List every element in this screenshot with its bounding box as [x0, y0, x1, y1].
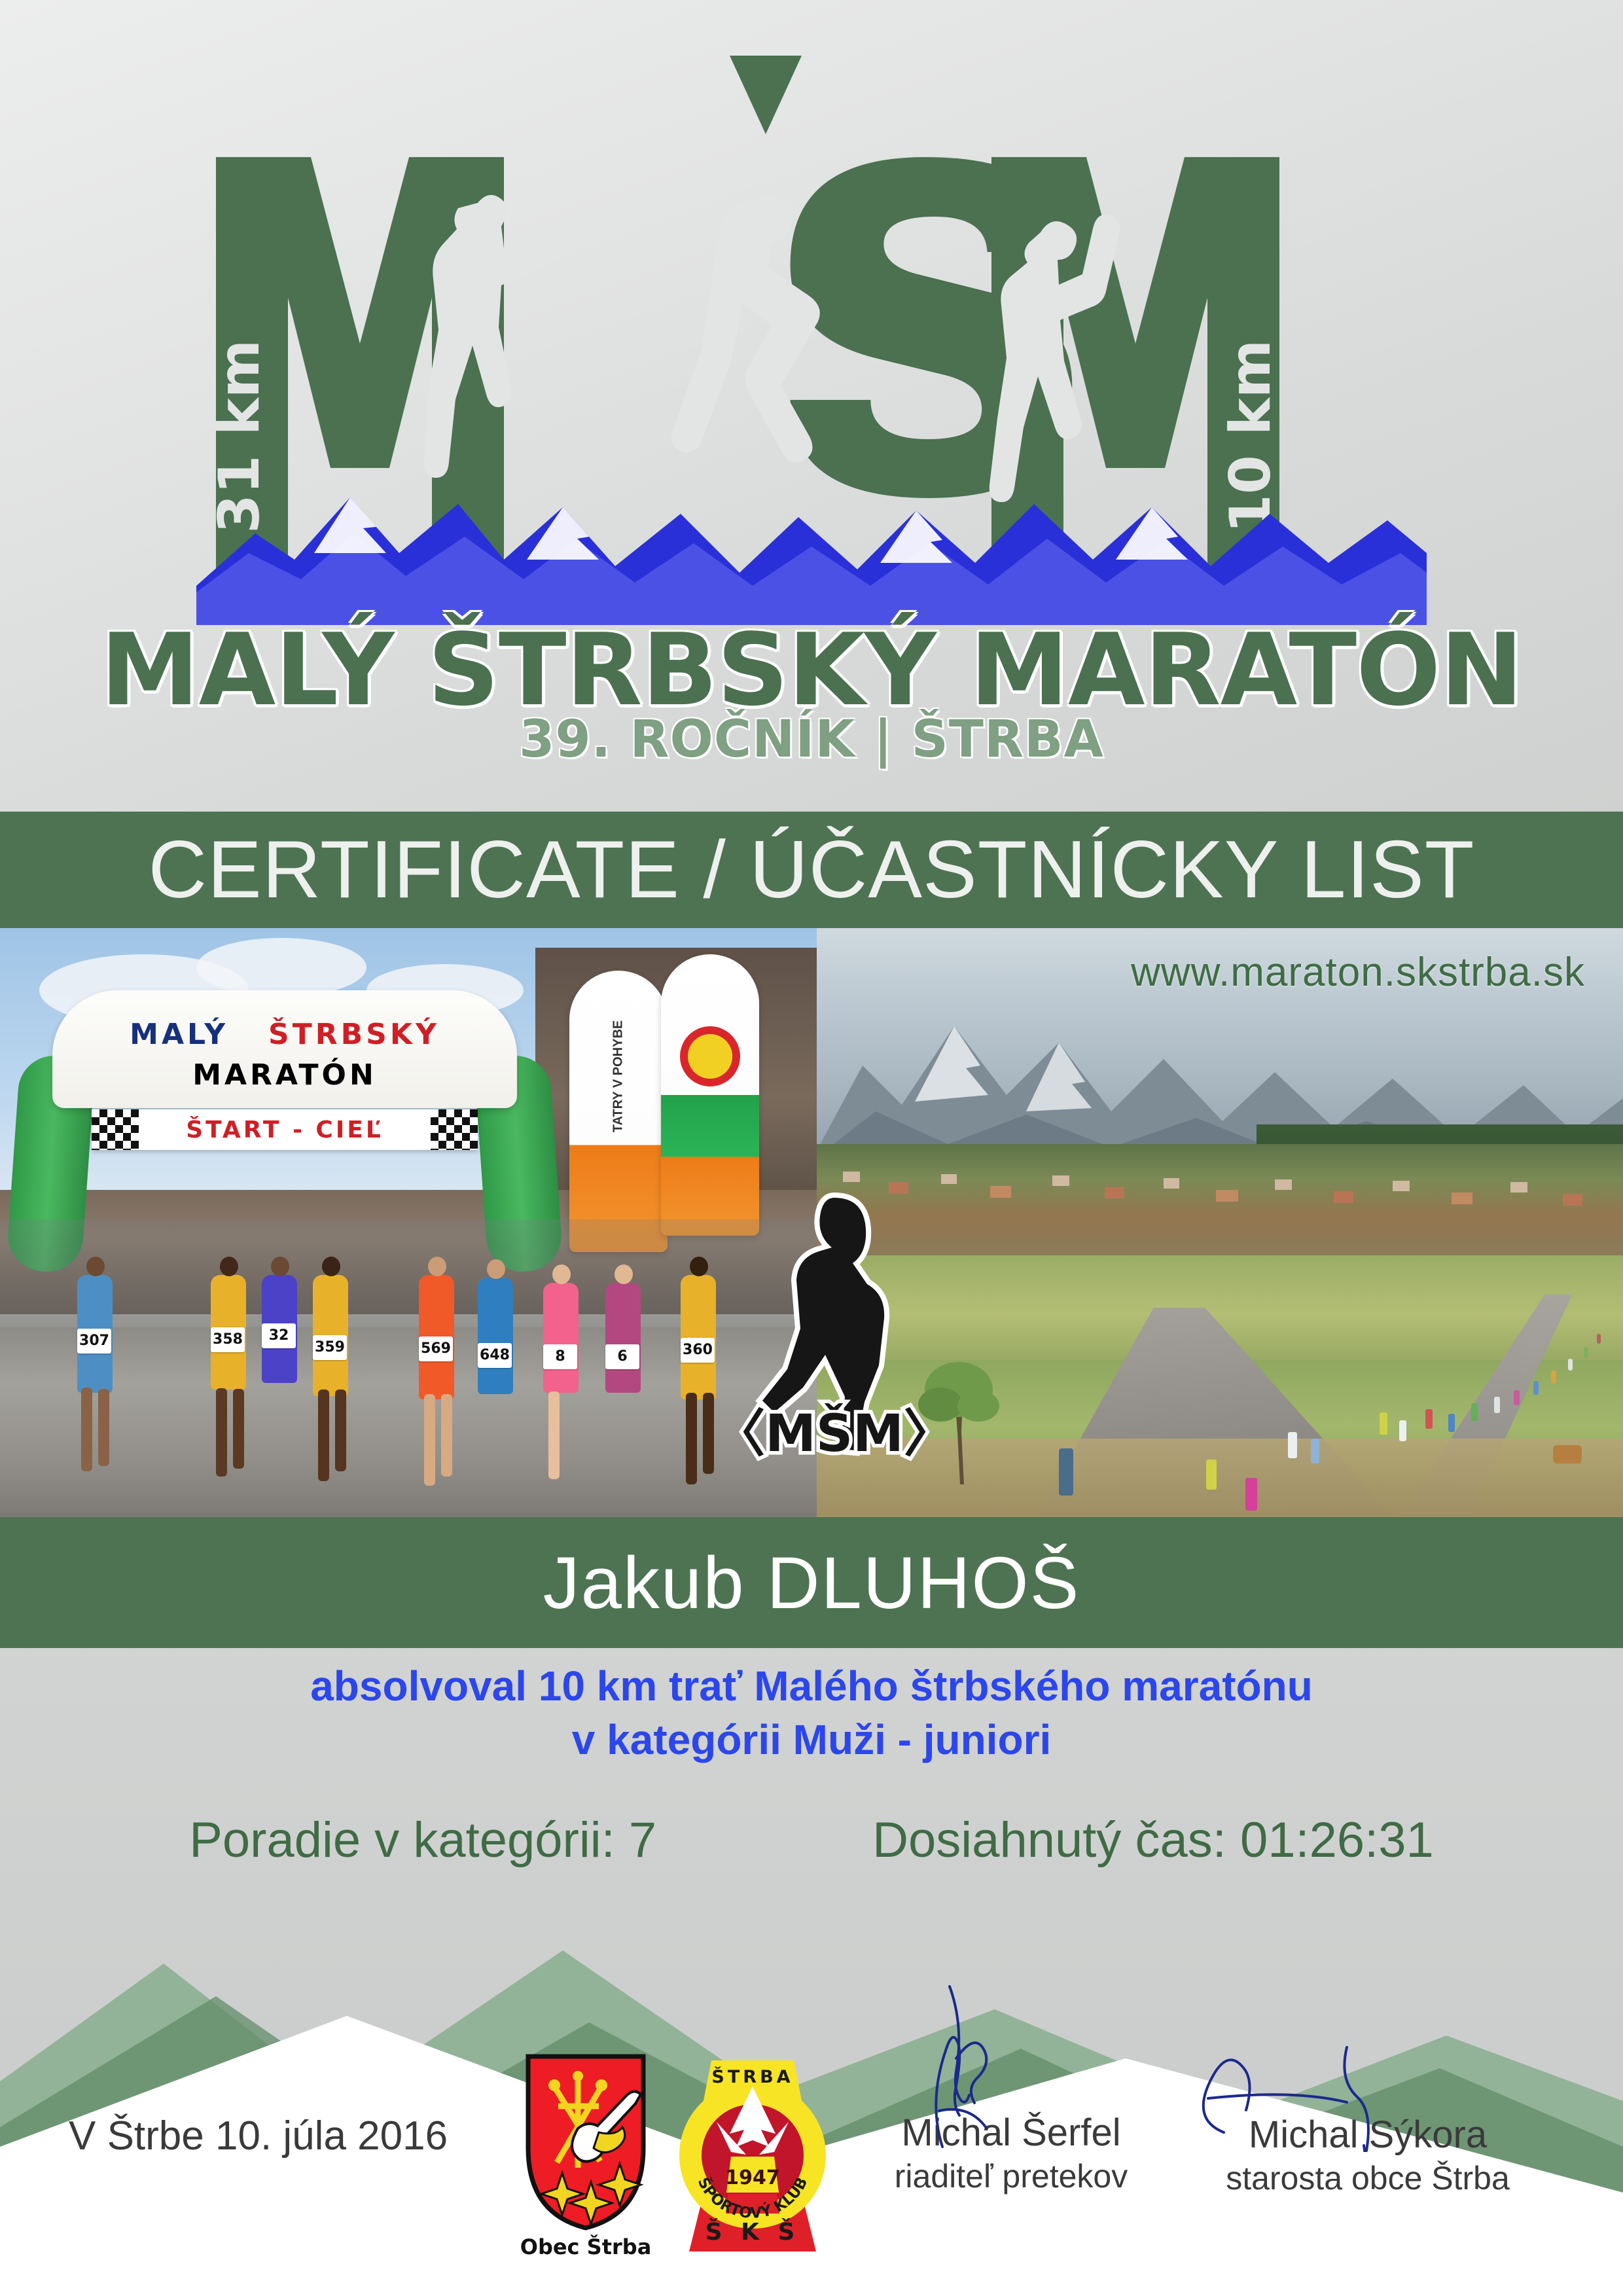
achievement-line-1: absolvoval 10 km trať Malého štrbského m… — [0, 1660, 1623, 1713]
runner — [1206, 1460, 1217, 1490]
finish-time: Dosiahnutý čas: 01:26:31 — [872, 1812, 1434, 1869]
participant-name-banner: Jakub DLUHOŠ — [0, 1517, 1623, 1648]
runner-bib: 6 — [605, 1344, 639, 1369]
runner-head — [271, 1257, 289, 1276]
club-emblem-small — [680, 1026, 740, 1086]
runner — [1288, 1432, 1297, 1458]
house — [1216, 1190, 1238, 1202]
runner-bib: 360 — [681, 1338, 715, 1363]
msm-logo-svg: 31 km 10 km — [196, 36, 1427, 625]
runner — [1425, 1409, 1433, 1429]
svg-text:〈MŠM〉: 〈MŠM〉 — [736, 1403, 933, 1463]
arch-word-maraton: MARATÓN — [192, 1058, 377, 1092]
coat-of-arms-svg: Obec Štrba — [520, 2050, 651, 2266]
certificate-title: CERTIFICATE / ÚČASTNÍCKY LIST — [148, 823, 1474, 916]
footer-row: V Štrbe 10. júla 2016 — [0, 2062, 1623, 2296]
runner-bib: 358 — [211, 1327, 245, 1352]
runner-leg — [216, 1388, 227, 1477]
header-section: 31 km 10 km — [0, 0, 1623, 812]
certificate-banner: CERTIFICATE / ÚČASTNÍCKY LIST — [0, 812, 1623, 928]
start-finish-text: ŠTART - CIEĽ — [186, 1117, 383, 1143]
runner — [1399, 1420, 1406, 1441]
arch-word-maly: MALÝ — [130, 1018, 228, 1051]
watermark-svg: 〈MŠM〉 — [736, 1181, 933, 1463]
spectator — [1059, 1448, 1073, 1496]
club-year: 1947 — [725, 2166, 780, 2189]
runner — [1380, 1412, 1387, 1435]
checker-left — [92, 1109, 139, 1150]
svg-text:10 km: 10 km — [1218, 340, 1283, 533]
photo-start-line: TATRY V POHYBE MALÝ ŠTRBSKÝ MARATÓN — [0, 928, 817, 1517]
runner-bib: 359 — [313, 1335, 347, 1360]
runner — [1533, 1381, 1539, 1395]
runner — [1448, 1414, 1455, 1432]
website-url: www.maraton.skstrba.sk — [1131, 949, 1585, 996]
house — [1510, 1182, 1527, 1193]
results-row: Poradie v kategórii: 7 Dosiahnutý čas: 0… — [0, 1812, 1623, 1869]
runner — [1311, 1439, 1319, 1463]
arch-line-1: MALÝ ŠTRBSKÝ — [52, 1018, 517, 1051]
runner-head — [86, 1257, 105, 1276]
runner-leg — [318, 1390, 329, 1481]
start-finish-banner: ŠTART - CIEĽ — [92, 1109, 478, 1150]
svg-text:31 km: 31 km — [207, 340, 272, 533]
arch-word-strbsky: ŠTRBSKÝ — [268, 1018, 440, 1051]
runner-head — [552, 1265, 571, 1284]
msm-runner-watermark: 〈MŠM〉 — [736, 1181, 933, 1463]
runner-leg — [686, 1393, 697, 1484]
watermark-msm-text: 〈MŠM〉 — [736, 1403, 933, 1463]
runner-leg — [335, 1390, 346, 1471]
obec-strba-emblem: Obec Štrba — [520, 2050, 651, 2266]
runner — [1597, 1334, 1601, 1344]
issue-date: V Štrbe 10. júla 2016 — [69, 2113, 448, 2159]
cloud — [196, 938, 366, 997]
house — [1105, 1187, 1124, 1198]
category-rank: Poradie v kategórii: 7 — [189, 1812, 656, 1869]
runner-leg — [424, 1394, 435, 1486]
village — [817, 1144, 1623, 1262]
signature-block-mayor: Michal Sýkora starosta obce Štrba — [1185, 2113, 1551, 2197]
house — [1334, 1191, 1353, 1203]
house — [1052, 1175, 1069, 1186]
runner-head — [615, 1265, 633, 1284]
race-subtitle: 39. ROČNÍK | ŠTRBA — [0, 710, 1623, 769]
arch-line-2: MARATÓN — [52, 1058, 517, 1092]
flag-text: TATRY V POHYBE — [611, 1020, 626, 1133]
runner-head — [428, 1257, 446, 1276]
signature-scribble — [1185, 1982, 1551, 2152]
runner — [1471, 1403, 1478, 1421]
emblem-label: Obec Štrba — [520, 2234, 651, 2259]
house — [1393, 1181, 1410, 1191]
runner-leg — [81, 1388, 92, 1471]
house — [1164, 1178, 1179, 1189]
runner — [1551, 1371, 1556, 1384]
runner-head — [322, 1257, 340, 1276]
cow — [1553, 1445, 1582, 1463]
runner-bib: 307 — [77, 1329, 111, 1354]
runner-bib: 8 — [543, 1344, 577, 1369]
photo-landscape: www.maraton.skstrba.sk — [817, 928, 1623, 1517]
runner-torso — [681, 1275, 716, 1399]
runner-bib: 648 — [478, 1343, 512, 1368]
club-bottom-text: Š K Š — [705, 2218, 800, 2246]
participant-name: Jakub DLUHOŠ — [543, 1541, 1080, 1625]
runner-torso — [478, 1278, 513, 1394]
signature-role: riaditeľ pretekov — [828, 2157, 1194, 2195]
runner-head — [487, 1259, 505, 1279]
runner — [1568, 1359, 1573, 1371]
house — [1563, 1194, 1582, 1206]
house — [843, 1172, 860, 1182]
runner-torso — [605, 1283, 641, 1393]
runner — [1245, 1478, 1257, 1511]
club-emblem-svg: 1947 ŠTRBA Š K Š ŠPORTOVÝ KLUB — [677, 2049, 828, 2265]
house — [941, 1174, 957, 1184]
sks-club-emblem: 1947 ŠTRBA Š K Š ŠPORTOVÝ KLUB — [677, 2049, 828, 2265]
signature-role: starosta obce Štrba — [1185, 2159, 1551, 2197]
runner — [1494, 1397, 1500, 1413]
checker-right — [431, 1109, 478, 1150]
signature-scribble — [828, 1980, 1194, 2150]
house — [990, 1186, 1011, 1198]
certificate-page: 31 km 10 km — [0, 0, 1623, 2296]
msm-logo: 31 km 10 km — [196, 36, 1427, 625]
runner-leg — [441, 1394, 452, 1477]
signature-block-director: Michal Šerfel riaditeľ pretekov — [828, 2111, 1194, 2195]
achievement-line-2: v kategórii Muži - juniori — [0, 1713, 1623, 1767]
runner-torso — [543, 1283, 579, 1393]
runner-leg — [98, 1389, 109, 1466]
body-text-zone: absolvoval 10 km trať Malého štrbského m… — [0, 1648, 1623, 1923]
runner-leg — [548, 1391, 560, 1479]
runner-bib: 569 — [419, 1336, 453, 1361]
runner-head — [690, 1257, 708, 1276]
house — [1452, 1193, 1472, 1204]
runner-bib: 32 — [262, 1323, 296, 1348]
arch-banner-top: MALÝ ŠTRBSKÝ MARATÓN — [52, 990, 517, 1108]
runner-leg — [703, 1393, 714, 1474]
runner — [1514, 1390, 1520, 1405]
club-top-text: ŠTRBA — [711, 2066, 793, 2087]
house — [1275, 1179, 1292, 1190]
runner-head — [220, 1257, 238, 1276]
teardrop-flag: TATRY V POHYBE — [569, 971, 668, 1252]
runner-leg — [233, 1389, 244, 1469]
runner — [1584, 1347, 1588, 1358]
